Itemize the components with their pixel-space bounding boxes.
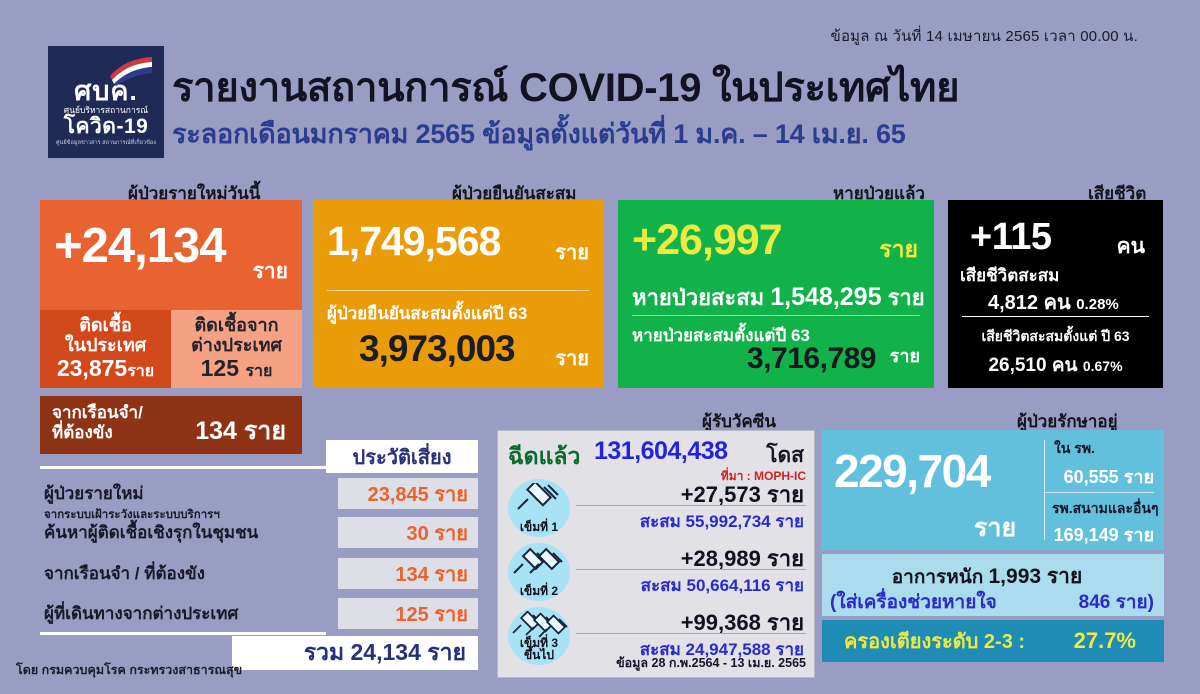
in-hospital-label: ใน รพ. [1054,438,1095,460]
divider [576,633,806,634]
ventilator-row: (ใส่เครื่องช่วยหายใจ 846 ราย) [830,587,1154,617]
dose-3-new: +99,368 ราย [681,605,804,640]
foreign-cases-card: ติดเชื้อจาก ต่างประเทศ 125 ราย [171,310,302,388]
deaths-cumulative-value: 4,812 คน [988,292,1071,314]
dose-1-cumulative: สะสม 55,992,734 ราย [640,508,804,535]
severe-label: อาการหนัก [892,567,983,588]
risk-value: 30 ราย [338,517,478,548]
bed-occupancy-block: ครองเตียงระดับ 2-3 : 27.7% [822,620,1164,662]
page-title: รายงานสถานการณ์ COVID-19 ในประเทศไทย [172,55,959,119]
dose-2-label: เข็มที่ 2 [520,585,558,601]
vaccination-footnote: ข้อมูล 28 ก.พ.2564 - 13 เม.ย. 2565 [616,653,806,673]
prison-label-line1: จากเรือนจำ/ [52,403,143,422]
deaths-since63-row: 26,510 คน 0.67% [948,350,1163,380]
treatment-total: 229,704 [834,444,990,498]
divider [327,290,589,291]
domestic-label-line1: ติดเชื้อ [79,315,132,335]
risk-row-new-cases: ผู้ป่วยรายใหม่ จากระบบเฝ้าระวังและระบบบร… [40,478,478,514]
dose-2-new: +28,989 ราย [681,541,804,576]
deaths-value: +115 [970,216,1052,259]
prison-label-line2: ที่ต้องขัง [52,423,113,442]
new-cases-card: +24,134 ราย [40,200,302,310]
risk-row-prison: จากเรือนจำ / ที่ต้องขัง 134 ราย [40,558,478,594]
logo-abbr-2: โควิด-19 [64,115,149,138]
treatment-total-unit: ราย [974,508,1016,548]
deaths-card: +115 คน เสียชีวิตสะสม 4,812 คน 0.28% เสี… [948,200,1163,388]
cumulative-unit: ราย [555,236,589,268]
vaccination-dose-1-row: เข็มที่ 1 +27,573 ราย สะสม 55,992,734 รา… [498,477,816,537]
vaccination-dose-2-row: เข็มที่ 2 +28,989 ราย สะสม 50,664,116 รา… [498,541,816,601]
recovered-card: +26,997 ราย หายป่วยสะสม 1,548,295 ราย หา… [618,200,934,388]
risk-label: จากเรือนจำ / ที่ต้องขัง [44,560,205,587]
risk-label: ค้นหาผู้ติดเชื้อเชิงรุกในชุมชน [44,519,258,546]
recovered-unit: ราย [879,232,918,268]
risk-value: 125 ราย [338,598,478,629]
dose-3-label: เข็มที่ 3 ขึ้นไป [520,637,558,665]
field-hospital-value: 169,149 ราย [1054,520,1154,549]
risk-label: ผู้ที่เดินทางจากต่างประเทศ [44,600,238,627]
foreign-value-row: 125 ราย [171,356,302,381]
cca-logo: ศบค. ศูนย์บริหารสถานการณ์ โควิด-19 ศูนย์… [48,46,164,158]
domestic-label-line2: ในประเทศ [65,335,146,355]
risk-row-overseas: ผู้ที่เดินทางจากต่างประเทศ 125 ราย [40,598,478,634]
bed-occupancy-value: 27.7% [1074,628,1164,654]
recovered-since63-value: 3,716,789 [747,342,876,376]
page-subtitle: ระลอกเดือนมกราคม 2565 ข้อมูลตั้งแต่วันที… [172,112,906,155]
risk-value: 134 ราย [338,558,478,589]
risk-history-total: รวม 24,134 ราย [232,636,478,670]
recovered-cumulative-row: หายป่วยสะสม 1,548,295 ราย [632,280,925,315]
foreign-label-line2: ต่างประเทศ [191,335,282,355]
dose-3-label-line2: ขึ้นไป [524,648,554,662]
foreign-unit: ราย [245,363,272,380]
prison-value: 134 ราย [195,411,286,451]
divider [632,315,920,316]
dose-2-cumulative: สะสม 50,664,116 ราย [641,572,804,599]
recovered-cumulative-value: 1,548,295 [770,283,881,311]
logo-subtitle-1: ศูนย์บริหารสถานการณ์ [64,106,148,116]
dose-1-label: เข็มที่ 1 [520,521,558,537]
syringe-3-icon [512,611,572,641]
syringe-3-icon-badge: เข็มที่ 3 ขึ้นไป [508,607,570,665]
recovered-since63-unit: ราย [890,341,920,370]
bed-occupancy-label: ครองเตียงระดับ 2-3 : [822,625,1025,657]
divider [40,632,326,635]
field-hospital-label: รพ.สนามและอื่นๆ [1052,498,1158,520]
divider [576,505,806,506]
ventilator-value: 846 ราย) [1079,587,1154,617]
syringe-1-icon-badge: เข็มที่ 1 [508,479,570,537]
domestic-unit: ราย [127,363,154,380]
prison-label: จากเรือนจำ/ ที่ต้องขัง [52,403,143,443]
severe-cases-block: อาการหนัก 1,993 ราย (ใส่เครื่องช่วยหายใจ… [822,554,1164,616]
deaths-cumulative-row: 4,812 คน 0.28% [988,286,1119,318]
divider [40,466,326,469]
cumulative-cases-card: 1,749,568 ราย ผู้ป่วยยืนยันสะสมตั้งแต่ปี… [313,200,603,388]
syringe-2-icon [512,547,570,579]
risk-row-active-screening: ค้นหาผู้ติดเชื้อเชิงรุกในชุมชน 30 ราย [40,517,478,553]
divider [1044,440,1045,540]
cumulative-value: 1,749,568 [327,218,500,265]
footer-credit: โดย กรมควบคุมโรค กระทรวงสาธารณสุข [16,660,242,680]
syringe-1-icon [512,483,566,515]
deaths-since63-label: เสียชีวิตสะสมตั้งแต่ ปี 63 [948,326,1163,348]
vaccination-title-label: ฉีดแล้ว [508,439,580,475]
vaccination-total-doses: 131,604,438 [594,437,728,466]
deaths-unit: คน [1117,230,1145,263]
divider [576,569,806,570]
severe-value: 1,993 ราย [989,565,1083,588]
cumulative-since63-unit: ราย [555,342,589,374]
divider [962,316,1149,317]
risk-value: 23,845 ราย [338,478,478,509]
domestic-cases-card: ติดเชื้อ ในประเทศ 23,875ราย [40,310,171,388]
in-hospital-value: 60,555 ราย [1064,462,1154,491]
deaths-cumulative-pct: 0.28% [1076,296,1119,313]
foreign-label-line1: ติดเชื้อจาก [194,315,278,335]
prison-cases-card: จากเรือนจำ/ ที่ต้องขัง 134 ราย [40,396,302,454]
deaths-cumulative-label: เสียชีวิตสะสม [960,262,1059,289]
data-timestamp: ข้อมูล ณ วันที่ 14 เมษายน 2565 เวลา 00.0… [830,24,1138,48]
ventilator-label: (ใส่เครื่องช่วยหายใจ [830,587,997,617]
syringe-2-icon-badge: เข็มที่ 2 [508,543,570,601]
infographic-root: ข้อมูล ณ วันที่ 14 เมษายน 2565 เวลา 00.0… [0,0,1200,694]
thai-flag-swoosh-icon [108,56,154,86]
cumulative-since63-label: ผู้ป่วยยืนยันสะสมตั้งแต่ปี 63 [327,300,527,327]
treatment-panel: 229,704 ราย ใน รพ. 60,555 ราย รพ.สนามและ… [822,430,1164,678]
deaths-since63-value: 26,510 คน [988,355,1077,376]
divider [1044,492,1154,493]
risk-history-header: ประวัติเสี่ยง [326,440,478,473]
vaccination-panel: ฉีดแล้ว 131,604,438 โดส ที่มา : MOPH-IC … [497,430,815,678]
cumulative-since63-value: 3,973,003 [359,328,515,370]
domestic-label: ติดเชื้อ ในประเทศ [40,310,171,355]
foreign-value: 125 [201,355,239,381]
foreign-label: ติดเชื้อจาก ต่างประเทศ [171,310,302,355]
new-cases-value: +24,134 [54,218,226,274]
domestic-value: 23,875 [57,355,127,381]
risk-label-text: ผู้ป่วยรายใหม่ [44,484,144,503]
logo-subtitle-2: ศูนย์ข้อมูลข่าวสาร สถานการณ์ที่เกี่ยวข้อ… [56,140,156,146]
dose-1-new: +27,573 ราย [681,477,804,512]
recovered-cumulative-label: หายป่วยสะสม [632,285,764,310]
domestic-value-row: 23,875ราย [40,356,171,381]
deaths-since63-pct: 0.67% [1083,358,1123,374]
treatment-total-block: 229,704 ราย ใน รพ. 60,555 ราย รพ.สนามและ… [822,430,1164,550]
recovered-value: +26,997 [632,216,782,265]
recovered-cumulative-unit: ราย [888,285,925,310]
new-cases-unit: ราย [253,255,288,288]
